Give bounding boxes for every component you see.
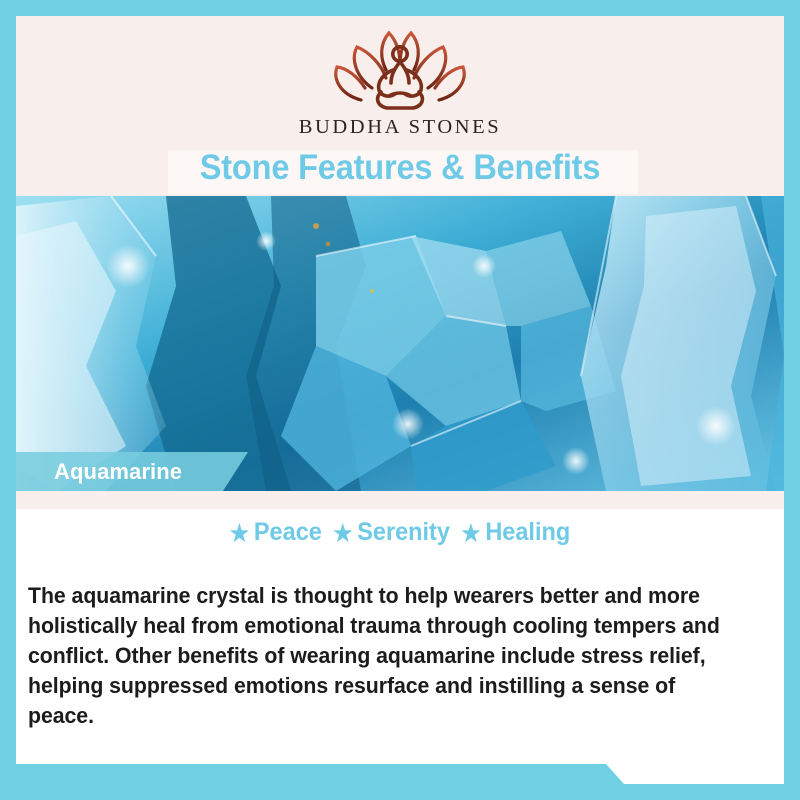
star-icon: ★ <box>461 522 480 545</box>
poster-canvas: BUDDHA STONES Stone Features & Benefits <box>16 16 784 784</box>
page-title: Stone Features & Benefits <box>43 148 757 188</box>
crystal-photo-art <box>16 196 784 491</box>
keyword-item-serenity: ★Serenity <box>333 518 450 547</box>
brand-name: BUDDHA STONES <box>16 116 784 139</box>
stone-name-banner: Aquamarine <box>16 452 248 491</box>
bottom-accent-bar <box>16 764 624 784</box>
stone-name-label: Aquamarine <box>54 459 182 485</box>
poster-header: BUDDHA STONES Stone Features & Benefits <box>16 16 784 196</box>
brand-logo: BUDDHA STONES <box>16 22 784 139</box>
star-icon: ★ <box>333 522 352 545</box>
keyword-label: Serenity <box>357 518 450 546</box>
keyword-item-peace: ★Peace <box>230 518 322 547</box>
keyword-list: ★Peace★Serenity★Healing <box>39 518 761 547</box>
content-top-divider <box>16 491 784 509</box>
lotus-meditation-icon <box>325 22 475 114</box>
photo-right-bleed <box>784 196 800 491</box>
star-icon: ★ <box>230 522 249 545</box>
content-section: ★Peace★Serenity★Healing The aquamarine c… <box>16 491 784 784</box>
keyword-label: Healing <box>485 518 570 546</box>
keyword-label: Peace <box>254 518 322 546</box>
description-text: The aquamarine crystal is thought to hel… <box>28 581 737 731</box>
keyword-item-healing: ★Healing <box>461 518 570 547</box>
poster-root: BUDDHA STONES Stone Features & Benefits <box>0 0 800 800</box>
crystal-photo: Aquamarine <box>16 196 784 491</box>
